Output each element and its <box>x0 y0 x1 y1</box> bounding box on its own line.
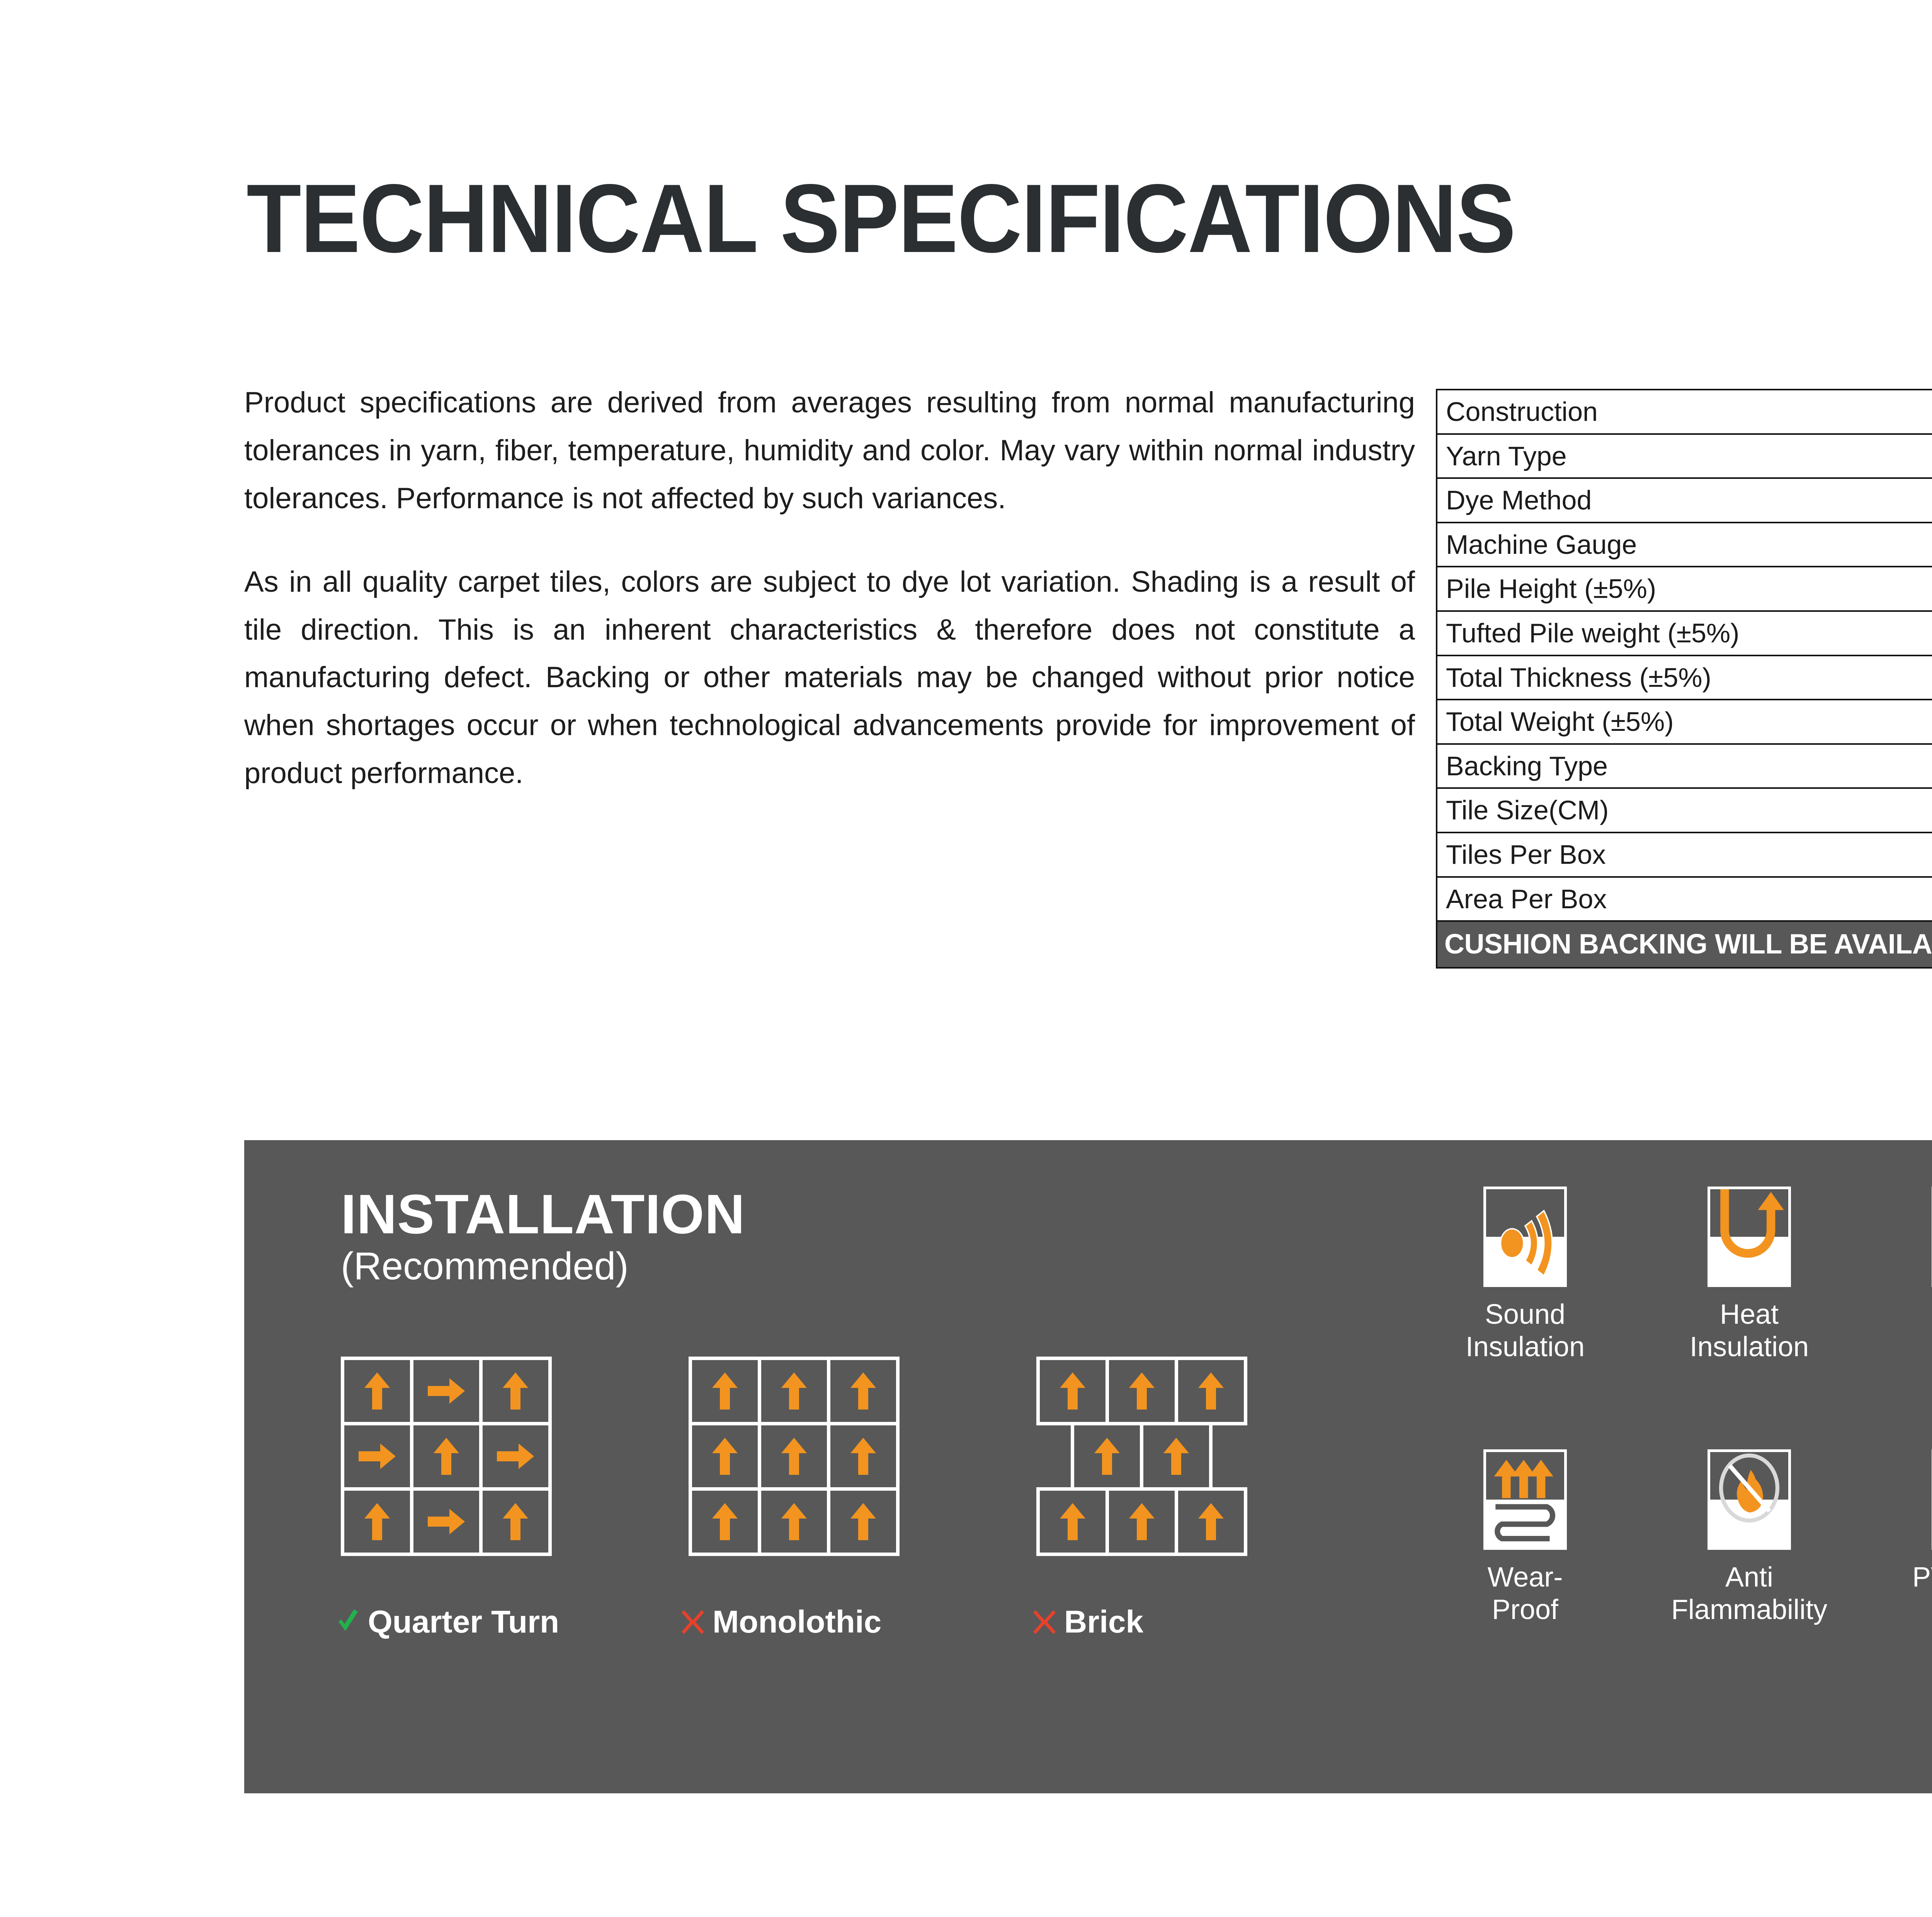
spec-key: Tufted Pile weight (±5%) <box>1437 611 1932 655</box>
wear-arrows-loop-icon <box>1483 1449 1567 1550</box>
feature-pvc-free: PVC PVC Free <box>1883 1449 1932 1594</box>
arrow-up-icon <box>1129 1503 1155 1540</box>
method-label-brick: Brick <box>1032 1604 1143 1640</box>
arrow-up-icon <box>1094 1438 1120 1475</box>
tile-grid <box>689 1357 900 1556</box>
pattern-tile <box>413 1360 479 1422</box>
arrow-up-icon <box>1198 1372 1224 1410</box>
intro-paragraph-1: Product specifications are derived from … <box>244 379 1415 523</box>
spec-key: Total Thickness (±5%) <box>1437 655 1932 700</box>
method-name: Brick <box>1064 1604 1143 1640</box>
installation-panel: INSTALLATION (Recommended) Quarter Turn … <box>244 1140 1932 1793</box>
pattern-tile <box>761 1425 827 1487</box>
arrow-up-icon <box>1163 1438 1189 1475</box>
arrow-up-icon <box>850 1372 876 1410</box>
pattern-tile <box>413 1425 479 1487</box>
arrow-right-icon <box>359 1444 396 1469</box>
table-row: Pile Height (±5%)3mm <box>1437 567 1932 611</box>
spec-key: Total Weight (±5%) <box>1437 700 1932 744</box>
brick-row <box>1071 1422 1213 1491</box>
table-row: ConstructionLevel Loop Plain <box>1437 390 1932 434</box>
spec-key: Pile Height (±5%) <box>1437 567 1932 611</box>
arrow-up-icon <box>850 1438 876 1475</box>
feature-label: Anti Static <box>1883 1299 1932 1363</box>
intro-paragraph-2: As in all quality carpet tiles, colors a… <box>244 558 1415 797</box>
arrow-up-icon <box>850 1503 876 1540</box>
spec-key: Machine Gauge <box>1437 523 1932 567</box>
pattern-tile <box>1178 1491 1244 1553</box>
pattern-tile <box>692 1360 758 1422</box>
pattern-tile <box>344 1491 410 1553</box>
spec-key: Tile Size(CM) <box>1437 788 1932 833</box>
intro-copy: Product specifications are derived from … <box>244 379 1415 797</box>
cross-mark-icon <box>681 1609 705 1636</box>
pattern-tile <box>1040 1360 1105 1422</box>
arrow-up-icon <box>1060 1503 1085 1540</box>
method-label-quarter-turn: Quarter Turn <box>336 1604 559 1640</box>
check-mark-icon <box>336 1609 360 1636</box>
specifications-table: ConstructionLevel Loop PlainYarn Type100… <box>1436 389 1932 969</box>
arrow-up-icon <box>712 1372 738 1410</box>
cross-mark-icon <box>1032 1609 1056 1636</box>
feature-sound-insulation: Sound Insulation <box>1434 1187 1616 1363</box>
installation-heading: INSTALLATION <box>341 1187 745 1242</box>
table-row: Machine Gauge1/10th <box>1437 523 1932 567</box>
installation-subheading: (Recommended) <box>341 1245 745 1288</box>
arrow-up-icon <box>503 1503 528 1540</box>
feature-anti-flammability: Anti Flammability <box>1658 1449 1840 1626</box>
pattern-tile <box>830 1491 896 1553</box>
pattern-tile <box>761 1360 827 1422</box>
pattern-tile <box>344 1360 410 1422</box>
feature-heat-insulation: Heat Insulation <box>1658 1187 1840 1363</box>
arrow-up-icon <box>781 1503 807 1540</box>
cushion-backing-banner: CUSHION BACKING WILL BE AVAILABLE AGAINS… <box>1437 921 1932 968</box>
no-flame-icon <box>1708 1449 1791 1550</box>
spec-key: Backing Type <box>1437 744 1932 788</box>
method-name: Quarter Turn <box>368 1604 559 1640</box>
arrow-up-icon <box>1060 1372 1085 1410</box>
sound-wave-icon <box>1483 1187 1567 1287</box>
arrow-up-icon <box>434 1438 459 1475</box>
banner-text: CUSHION BACKING WILL BE AVAILABLE AGAINS… <box>1437 921 1932 968</box>
pattern-tile <box>1143 1425 1209 1487</box>
arrow-up-icon <box>712 1503 738 1540</box>
table-row: Tile Size(CM)50 cm × 50 cm <box>1437 788 1932 833</box>
arrow-up-icon <box>781 1372 807 1410</box>
installation-heading-block: INSTALLATION (Recommended) <box>341 1187 745 1288</box>
feature-label: Wear- Proof <box>1434 1561 1616 1626</box>
arrow-up-icon <box>1198 1503 1224 1540</box>
table-row: Total Thickness (±5%)05 mm <box>1437 655 1932 700</box>
pattern-tile <box>1040 1491 1105 1553</box>
table-row: Dye MethodSolution Dye <box>1437 478 1932 523</box>
arrow-right-icon <box>497 1444 534 1469</box>
method-label-monolothic: Monolothic <box>681 1604 881 1640</box>
arrow-right-icon <box>428 1509 465 1534</box>
spec-key: Yarn Type <box>1437 434 1932 478</box>
pattern-tile <box>692 1425 758 1487</box>
pattern-tile <box>483 1425 548 1487</box>
u-turn-arrow-icon <box>1708 1187 1791 1287</box>
tile-grid <box>341 1357 552 1556</box>
pattern-tile <box>483 1360 548 1422</box>
brick-pattern <box>1036 1357 1253 1552</box>
pattern-tile <box>1178 1360 1244 1422</box>
pattern-tile <box>692 1491 758 1553</box>
table-row: Tufted Pile weight (±5%)510 GSM <box>1437 611 1932 655</box>
pattern-grid-quarter-turn <box>341 1357 552 1556</box>
arrow-up-icon <box>364 1503 390 1540</box>
spec-key: Area Per Box <box>1437 877 1932 921</box>
spec-key: Dye Method <box>1437 478 1932 523</box>
arrow-up-icon <box>364 1372 390 1410</box>
feature-wear-proof: Wear- Proof <box>1434 1449 1616 1626</box>
arrow-right-icon <box>428 1378 465 1404</box>
pattern-tile <box>830 1360 896 1422</box>
pattern-tile <box>1109 1360 1175 1422</box>
pattern-tile <box>1109 1491 1175 1553</box>
table-row: Yarn Type100% BCF Polypropylene <box>1437 434 1932 478</box>
arrow-up-icon <box>781 1438 807 1475</box>
arrow-up-icon <box>503 1372 528 1410</box>
pattern-tile <box>761 1491 827 1553</box>
pattern-tile <box>1074 1425 1140 1487</box>
feature-label: PVC Free <box>1883 1561 1932 1594</box>
pattern-tile <box>483 1491 548 1553</box>
brick-row <box>1036 1357 1247 1425</box>
pattern-tile <box>830 1425 896 1487</box>
arrow-up-icon <box>1129 1372 1155 1410</box>
feature-label: Sound Insulation <box>1434 1299 1616 1363</box>
spec-key: Construction <box>1437 390 1932 434</box>
method-name: Monolothic <box>713 1604 881 1640</box>
pattern-grid-brick <box>1036 1357 1253 1552</box>
table-row: Tiles Per Box24 pcs <box>1437 833 1932 877</box>
pattern-tile <box>413 1491 479 1553</box>
pattern-grid-monolothic <box>689 1357 900 1556</box>
table-row: Area Per Box06 sqm <box>1437 877 1932 921</box>
pattern-tile <box>344 1425 410 1487</box>
technical-specifications-page: TECHNICAL SPECIFICATIONS Product specifi… <box>0 0 1932 1917</box>
page-title: TECHNICAL SPECIFICATIONS <box>247 170 1515 267</box>
table-row: Backing TypeBitumen + Felt <box>1437 744 1932 788</box>
brick-row <box>1036 1487 1247 1556</box>
spec-key: Tiles Per Box <box>1437 833 1932 877</box>
feature-anti-static: Anti Static <box>1883 1187 1932 1363</box>
feature-label: Anti Flammability <box>1658 1561 1840 1626</box>
feature-label: Heat Insulation <box>1658 1299 1840 1363</box>
table-row: Total Weight (±5%)3350 gsm <box>1437 700 1932 744</box>
arrow-up-icon <box>712 1438 738 1475</box>
